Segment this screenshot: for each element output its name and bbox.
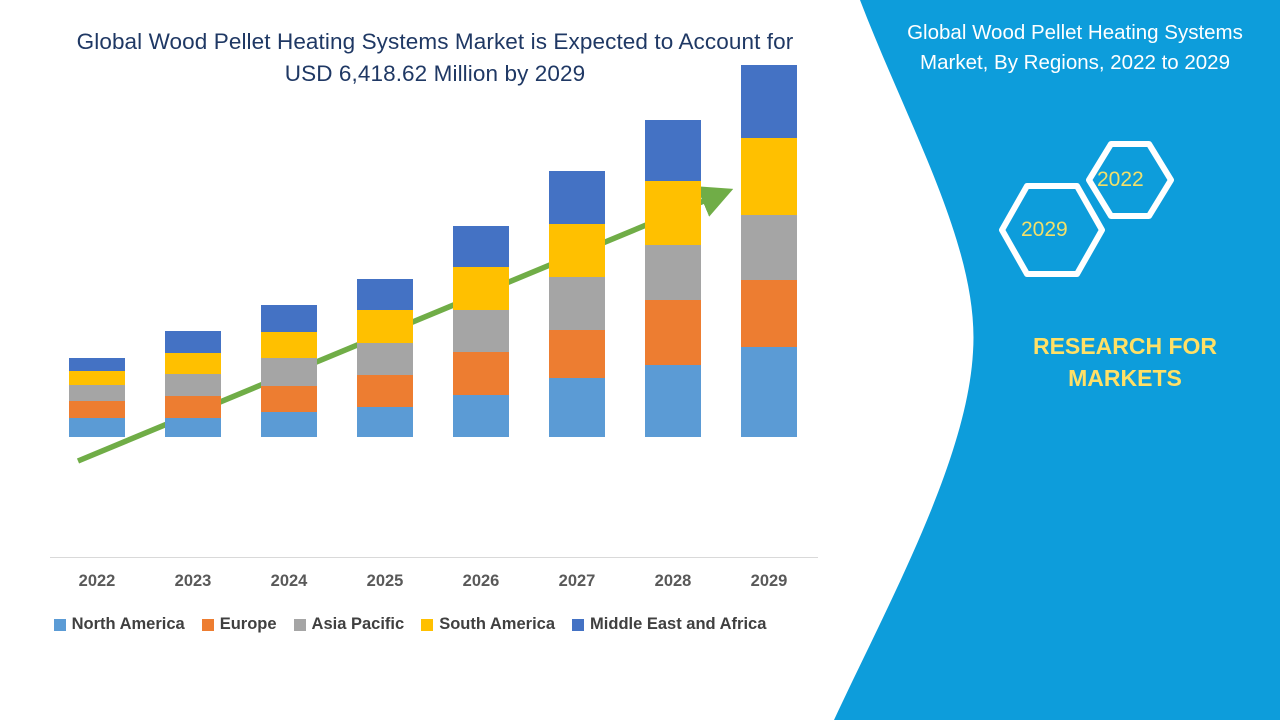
bar-segment[interactable] (69, 418, 125, 437)
hexagon-outline-icons (985, 140, 1205, 290)
brand-text: RESEARCH FOR MARKETS (975, 330, 1275, 394)
bar-2023[interactable] (165, 331, 221, 437)
bar-segment[interactable] (453, 395, 509, 437)
legend-item-south-america[interactable]: South America (421, 615, 555, 634)
bar-segment[interactable] (357, 279, 413, 310)
bar-segment[interactable] (549, 277, 605, 330)
bar-segment[interactable] (453, 310, 509, 352)
legend-item-asia-pacific[interactable]: Asia Pacific (294, 615, 405, 634)
bar-segment[interactable] (741, 138, 797, 215)
bar-segment[interactable] (165, 396, 221, 418)
bar-segment[interactable] (261, 332, 317, 358)
legend-label: Middle East and Africa (590, 615, 766, 634)
bar-segment[interactable] (645, 245, 701, 300)
bar-segment[interactable] (69, 371, 125, 385)
bar-segment[interactable] (741, 215, 797, 280)
bar-segment[interactable] (741, 65, 797, 138)
bar-segment[interactable] (453, 352, 509, 395)
legend-item-middle-east-and-africa[interactable]: Middle East and Africa (572, 615, 766, 634)
chart-plot-area: 2022 2023 2024 2025 2026 2027 2028 2029 … (0, 0, 820, 600)
bar-2025[interactable] (357, 279, 413, 437)
legend-label: North America (72, 615, 185, 634)
bar-segment[interactable] (357, 375, 413, 407)
bar-2028[interactable] (645, 120, 701, 437)
legend-item-north-america[interactable]: North America (54, 615, 185, 634)
bar-2029[interactable] (741, 65, 797, 437)
x-axis-baseline (50, 557, 818, 558)
bar-segment[interactable] (645, 365, 701, 437)
bar-segment[interactable] (741, 347, 797, 437)
panel-title: Global Wood Pellet Heating Systems Marke… (895, 18, 1255, 77)
bar-2026[interactable] (453, 226, 509, 437)
bar-segment[interactable] (165, 374, 221, 396)
x-tick-2022: 2022 (52, 572, 142, 591)
bar-segment[interactable] (453, 226, 509, 267)
legend-label: South America (439, 615, 555, 634)
bar-segment[interactable] (165, 418, 221, 437)
bar-segment[interactable] (549, 171, 605, 224)
bar-segment[interactable] (645, 300, 701, 365)
bar-segment[interactable] (261, 305, 317, 332)
legend-item-europe[interactable]: Europe (202, 615, 277, 634)
bar-segment[interactable] (741, 280, 797, 347)
bar-segment[interactable] (69, 401, 125, 418)
x-tick-2025: 2025 (340, 572, 430, 591)
legend-swatch-icon (421, 619, 433, 631)
x-tick-2023: 2023 (148, 572, 238, 591)
x-tick-2028: 2028 (628, 572, 718, 591)
x-tick-2029: 2029 (724, 572, 814, 591)
hex-label-2022: 2022 (1097, 168, 1144, 192)
bar-2027[interactable] (549, 171, 605, 437)
legend-swatch-icon (202, 619, 214, 631)
bar-segment[interactable] (165, 353, 221, 374)
bar-2022[interactable] (69, 358, 125, 437)
x-tick-2027: 2027 (532, 572, 622, 591)
legend-label: Europe (220, 615, 277, 634)
x-axis-tick-labels: 2022 2023 2024 2025 2026 2027 2028 2029 (0, 572, 820, 600)
bar-segment[interactable] (357, 407, 413, 437)
x-tick-2026: 2026 (436, 572, 526, 591)
bar-segment[interactable] (261, 386, 317, 412)
bar-segment[interactable] (453, 267, 509, 310)
bar-segment[interactable] (69, 358, 125, 371)
bar-segment[interactable] (357, 310, 413, 343)
bar-segment[interactable] (165, 331, 221, 353)
bar-segment[interactable] (357, 343, 413, 375)
bar-segment[interactable] (261, 412, 317, 437)
bar-segment[interactable] (549, 224, 605, 277)
legend-swatch-icon (54, 619, 66, 631)
bars-layer (0, 0, 820, 600)
bar-segment[interactable] (549, 330, 605, 378)
x-tick-2024: 2024 (244, 572, 334, 591)
bar-segment[interactable] (645, 181, 701, 245)
chart-legend: North America Europe Asia Pacific South … (0, 615, 820, 634)
hex-label-2029: 2029 (1021, 218, 1068, 242)
slide-root: Global Wood Pellet Heating Systems Marke… (0, 0, 1280, 720)
bar-segment[interactable] (645, 120, 701, 181)
bar-segment[interactable] (69, 385, 125, 401)
legend-label: Asia Pacific (312, 615, 405, 634)
bar-2024[interactable] (261, 305, 317, 437)
legend-swatch-icon (294, 619, 306, 631)
hexagon-badges: 2022 2029 (985, 140, 1205, 290)
legend-swatch-icon (572, 619, 584, 631)
bar-segment[interactable] (261, 358, 317, 386)
bar-segment[interactable] (549, 378, 605, 437)
